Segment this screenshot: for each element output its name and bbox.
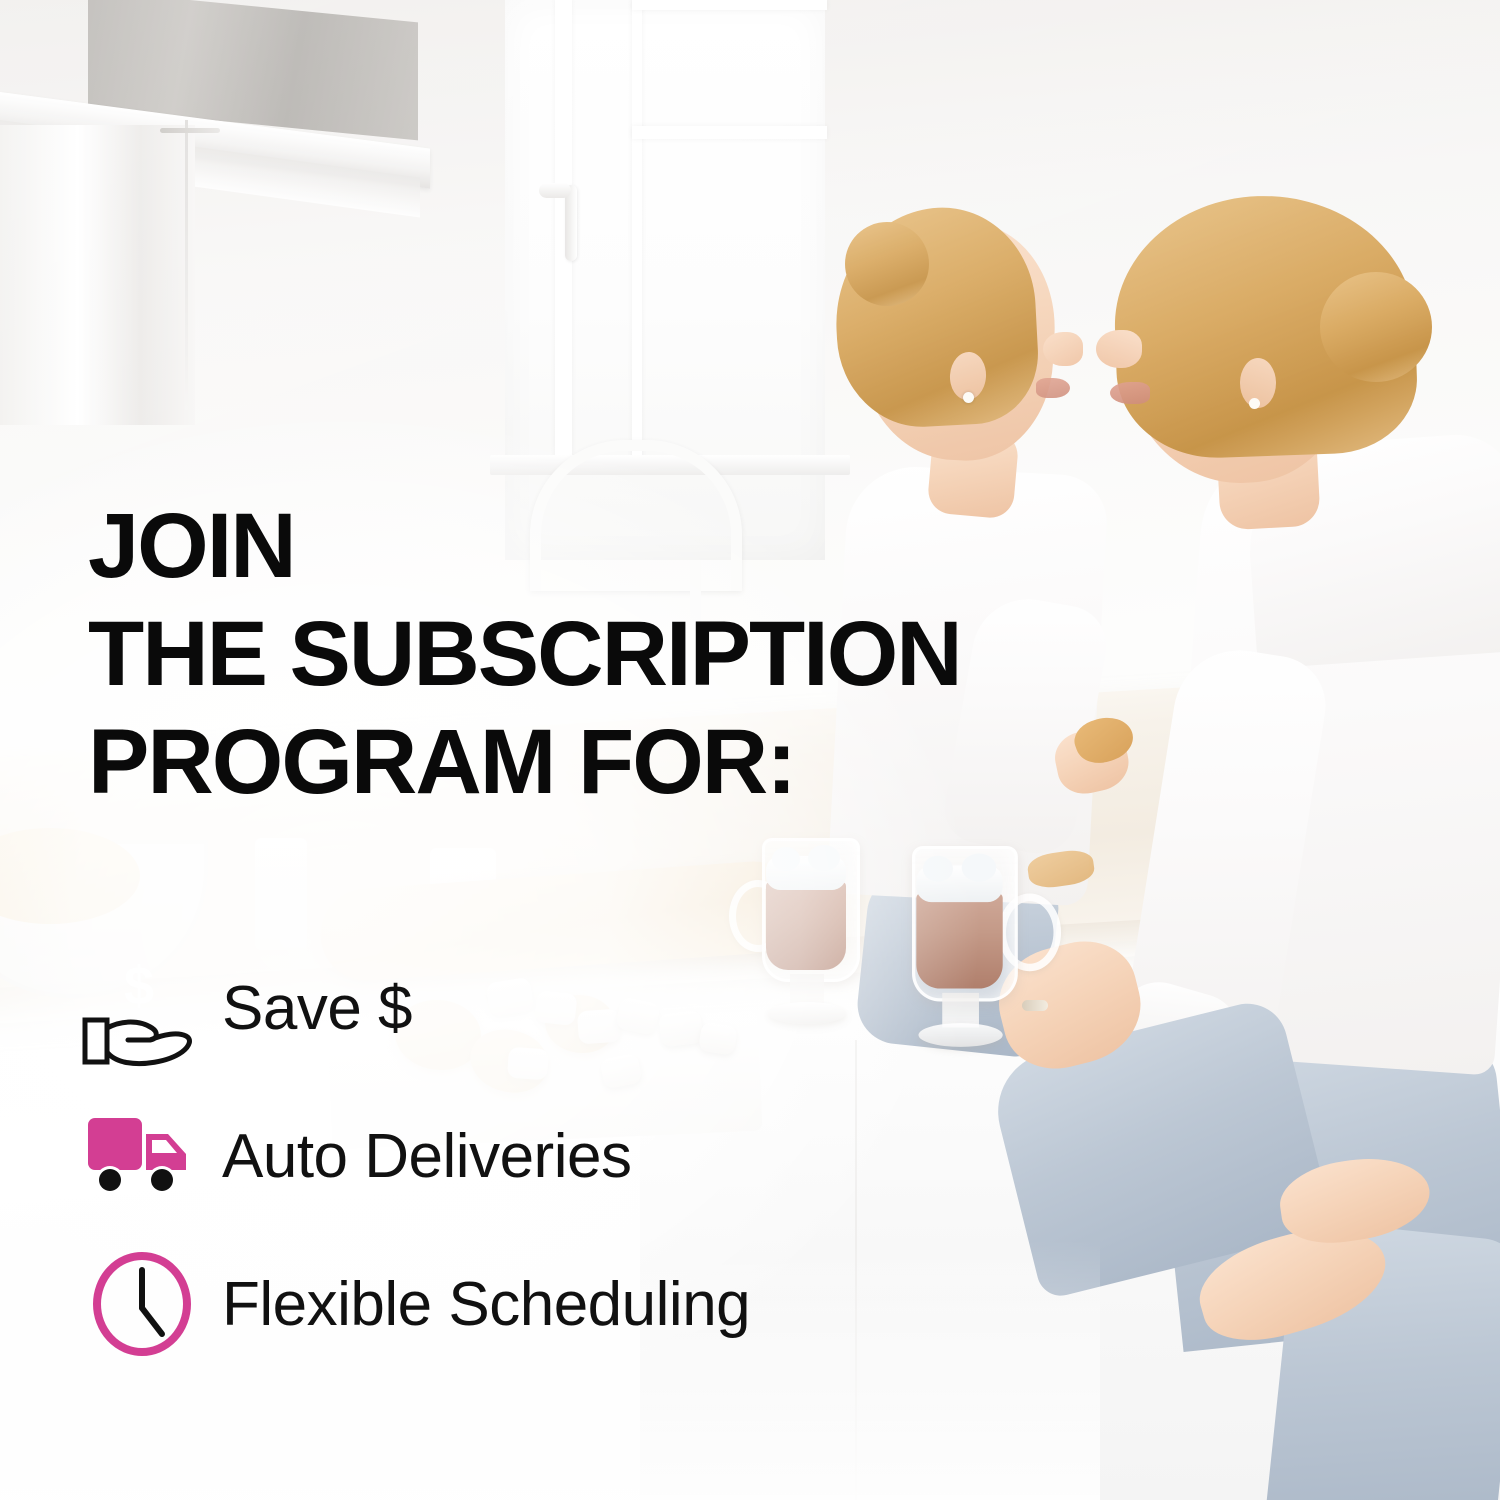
benefit-flexible-scheduling: Flexible Scheduling xyxy=(84,1230,750,1378)
subscription-program-ad: JOIN THE SUBSCRIPTION PROGRAM FOR: $ Sav… xyxy=(0,0,1500,1500)
clock-icon xyxy=(84,1246,200,1362)
benefit-label: Save $ xyxy=(222,973,412,1044)
benefit-save-money: $ Save $ xyxy=(84,934,750,1082)
delivery-truck-icon xyxy=(84,1098,200,1214)
headline: JOIN THE SUBSCRIPTION PROGRAM FOR: xyxy=(88,492,1068,816)
headline-line-2: THE SUBSCRIPTION xyxy=(88,600,1068,708)
headline-line-3: PROGRAM FOR: xyxy=(88,708,1068,816)
dollar-in-hand-icon: $ xyxy=(84,950,200,1066)
clock-glyph xyxy=(90,1252,194,1356)
benefit-label: Auto Deliveries xyxy=(222,1121,631,1192)
benefits-list: $ Save $ xyxy=(84,934,750,1378)
headline-line-1: JOIN xyxy=(88,492,1068,600)
ad-content: JOIN THE SUBSCRIPTION PROGRAM FOR: $ Sav… xyxy=(0,0,1500,1500)
open-hand-icon xyxy=(82,1008,194,1068)
benefit-label: Flexible Scheduling xyxy=(222,1269,750,1340)
truck-glyph xyxy=(86,1112,196,1200)
benefit-auto-deliveries: Auto Deliveries xyxy=(84,1082,750,1230)
